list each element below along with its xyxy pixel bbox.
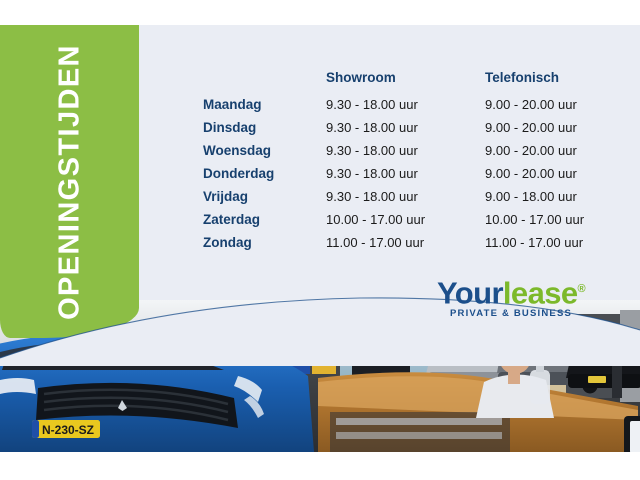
openingstijden-poster: N-230-SZ — [0, 0, 640, 480]
telefonisch-hours: 9.00 - 20.00 uur — [485, 166, 623, 181]
table-row: Woensdag 9.30 - 18.00 uur 9.00 - 20.00 u… — [203, 143, 623, 166]
license-plate-text: N-230-SZ — [42, 423, 94, 437]
telefonisch-hours: 9.00 - 20.00 uur — [485, 120, 623, 135]
table-row: Donderdag 9.30 - 18.00 uur 9.00 - 20.00 … — [203, 166, 623, 189]
showroom-hours: 9.30 - 18.00 uur — [326, 189, 485, 204]
table-header-row: Showroom Telefonisch — [203, 70, 623, 97]
table-row: Zondag 11.00 - 17.00 uur 11.00 - 17.00 u… — [203, 235, 623, 258]
day-label: Donderdag — [203, 166, 326, 181]
logo-wordmark: Yourlease® — [437, 272, 585, 310]
day-label: Woensdag — [203, 143, 326, 158]
logo-your-text: Your — [437, 275, 503, 310]
telefonisch-hours: 9.00 - 18.00 uur — [485, 189, 623, 204]
day-label: Zondag — [203, 235, 326, 250]
bottom-white-band — [0, 452, 640, 480]
logo-lease-text: lease — [503, 275, 578, 310]
top-white-band — [0, 0, 640, 25]
day-label: Maandag — [203, 97, 326, 112]
telefonisch-hours: 9.00 - 20.00 uur — [485, 97, 623, 112]
yourlease-logo: Yourlease® PRIVATE & BUSINESS — [437, 272, 585, 319]
day-label: Vrijdag — [203, 189, 326, 204]
telefonisch-hours: 11.00 - 17.00 uur — [485, 235, 623, 250]
header-showroom: Showroom — [326, 70, 485, 85]
showroom-hours: 9.30 - 18.00 uur — [326, 166, 485, 181]
showroom-hours: 9.30 - 18.00 uur — [326, 143, 485, 158]
telefonisch-hours: 10.00 - 17.00 uur — [485, 212, 623, 227]
table-row: Zaterdag 10.00 - 17.00 uur 10.00 - 17.00… — [203, 212, 623, 235]
showroom-hours: 11.00 - 17.00 uur — [326, 235, 485, 250]
registered-trademark-icon: ® — [578, 283, 586, 295]
opening-hours-table: Showroom Telefonisch Maandag 9.30 - 18.0… — [203, 70, 623, 258]
showroom-hours: 9.30 - 18.00 uur — [326, 97, 485, 112]
table-row: Maandag 9.30 - 18.00 uur 9.00 - 20.00 uu… — [203, 97, 623, 120]
telefonisch-hours: 9.00 - 20.00 uur — [485, 143, 623, 158]
showroom-hours: 9.30 - 18.00 uur — [326, 120, 485, 135]
day-label: Zaterdag — [203, 212, 326, 227]
showroom-hours: 10.00 - 17.00 uur — [326, 212, 485, 227]
day-label: Dinsdag — [203, 120, 326, 135]
page-title: OPENINGSTIJDEN — [53, 44, 86, 320]
table-row: Dinsdag 9.30 - 18.00 uur 9.00 - 20.00 uu… — [203, 120, 623, 143]
green-side-panel: OPENINGSTIJDEN — [0, 25, 139, 338]
logo-tagline: PRIVATE & BUSINESS — [437, 308, 585, 319]
header-telefonisch: Telefonisch — [485, 70, 623, 85]
table-row: Vrijdag 9.30 - 18.00 uur 9.00 - 18.00 uu… — [203, 189, 623, 212]
